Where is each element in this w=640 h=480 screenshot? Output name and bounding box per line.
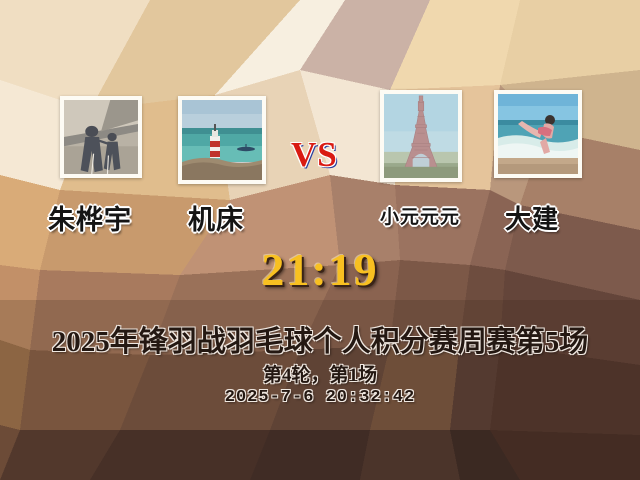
player-avatar-0[interactable] (60, 96, 142, 178)
player-avatar-2[interactable] (380, 90, 462, 182)
photo-eiffel-tower-icon (384, 94, 458, 178)
photo-lighthouse-sea-icon (182, 100, 262, 180)
photo-shadows-on-road-icon (64, 100, 138, 174)
photo-beach-jump-icon (498, 94, 578, 174)
score-display: 21:19 (0, 243, 640, 296)
player-name-0: 朱桦宇 (48, 198, 132, 237)
player-avatar-1[interactable] (178, 96, 266, 184)
player-name-1: 机床 (188, 198, 244, 237)
match-timestamp: 2025-7-6 20:32:42 (0, 388, 640, 407)
scoreboard-screen: VS 朱桦宇 机床 小元元元 大建 21:19 2025年锋羽战羽毛球个人积分赛… (0, 0, 640, 480)
low-poly-background (0, 0, 640, 480)
player-name-3: 大建 (505, 199, 559, 236)
player-name-2: 小元元元 (380, 202, 460, 229)
match-title: 2025年锋羽战羽毛球个人积分赛周赛第5场 (0, 318, 640, 360)
match-round: 第4轮，第1场 (0, 360, 640, 387)
player-avatar-3[interactable] (494, 90, 582, 178)
vs-label: VS (291, 135, 338, 175)
